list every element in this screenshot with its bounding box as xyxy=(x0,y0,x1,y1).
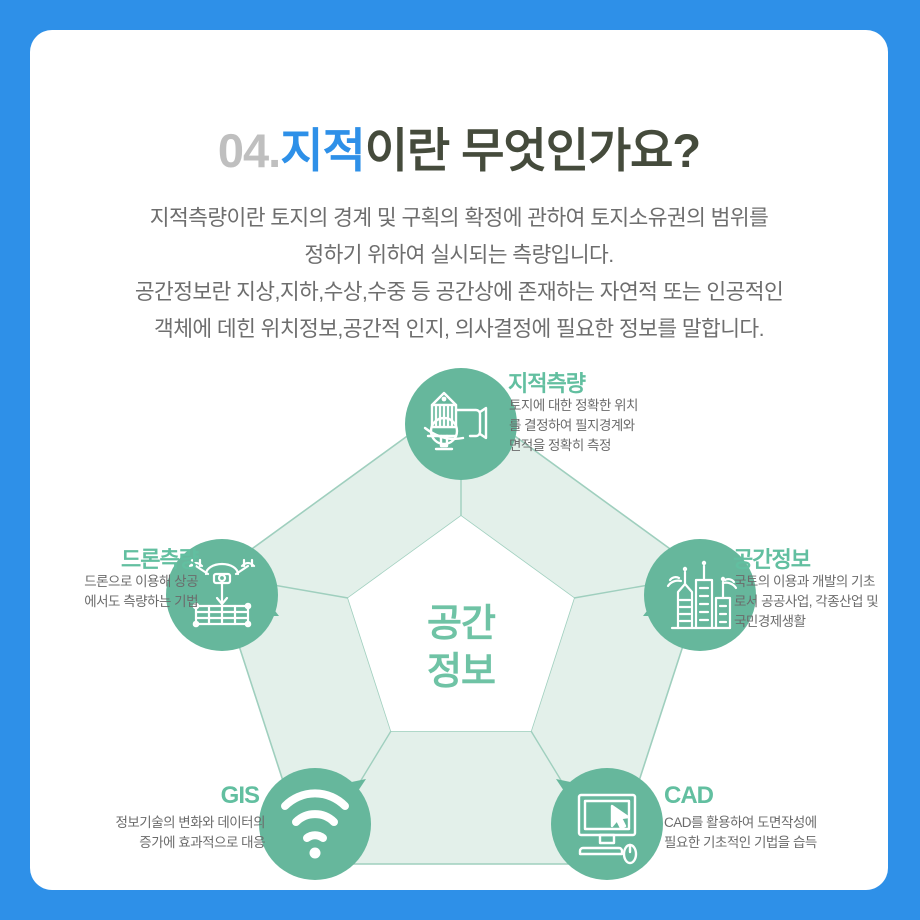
diagram-center-label: 공간 정보 xyxy=(381,600,541,696)
node-desc-cadastral: 토지에 대한 정확한 위치 를 결정하여 필지경계와 면적을 정확히 측정 xyxy=(509,396,638,456)
node-desc-line: CAD를 활용하여 도면작성에 xyxy=(664,813,817,833)
node-desc-gis: 정보기술의 변화와 데이터의 증가에 효과적으로 대응 xyxy=(115,813,265,853)
node-desc-line: 를 결정하여 필지경계와 xyxy=(509,416,638,436)
node-desc-line: 드론으로 이용해 상공 xyxy=(84,572,198,592)
pentagon-graphic xyxy=(30,30,888,890)
node-desc-line: 국민경제생활 xyxy=(734,612,878,632)
node-label-cad: CAD xyxy=(664,782,713,810)
node-desc-line: 에서도 측량하는 기법 xyxy=(84,592,198,612)
node-desc-line: 필요한 기초적인 기법을 습득 xyxy=(664,833,817,853)
node-bubble-cadastral[interactable] xyxy=(405,368,517,480)
infographic-slide: 04.지적이란 무엇인가요? 지적측량이란 토지의 경계 및 구획의 확정에 관… xyxy=(0,0,920,920)
node-desc-line: 국토의 이용과 개발의 기초 xyxy=(734,572,878,592)
node-desc-line: 증가에 효과적으로 대응 xyxy=(115,833,265,853)
node-label-spatial: 공간정보 xyxy=(733,542,810,574)
node-desc-line: 로서 공공사업, 각종산업 및 xyxy=(734,592,878,612)
center-label-line: 공간 xyxy=(381,600,541,648)
node-desc-line: 토지에 대한 정확한 위치 xyxy=(509,396,638,416)
node-desc-drone: 드론으로 이용해 상공 에서도 측량하는 기법 xyxy=(84,572,198,612)
node-desc-line: 정보기술의 변화와 데이터의 xyxy=(115,813,265,833)
node-desc-line: 면적을 정확히 측정 xyxy=(509,436,638,456)
node-label-drone: 드론측량 xyxy=(121,542,198,574)
node-bubble-gis[interactable] xyxy=(259,768,371,880)
center-label-line: 정보 xyxy=(381,648,541,696)
node-label-cadastral: 지적측량 xyxy=(508,366,585,398)
pentagon-diagram: 지적측량 토지에 대한 정확한 위치 를 결정하여 필지경계와 면적을 정확히 … xyxy=(30,30,888,890)
node-desc-spatial: 국토의 이용과 개발의 기초 로서 공공사업, 각종산업 및 국민경제생활 xyxy=(734,572,878,632)
node-desc-cad: CAD를 활용하여 도면작성에 필요한 기초적인 기법을 습득 xyxy=(664,813,817,853)
content-card: 04.지적이란 무엇인가요? 지적측량이란 토지의 경계 및 구획의 확정에 관… xyxy=(30,30,888,890)
node-label-gis: GIS xyxy=(221,782,259,810)
node-bubble-cad[interactable] xyxy=(551,768,663,880)
